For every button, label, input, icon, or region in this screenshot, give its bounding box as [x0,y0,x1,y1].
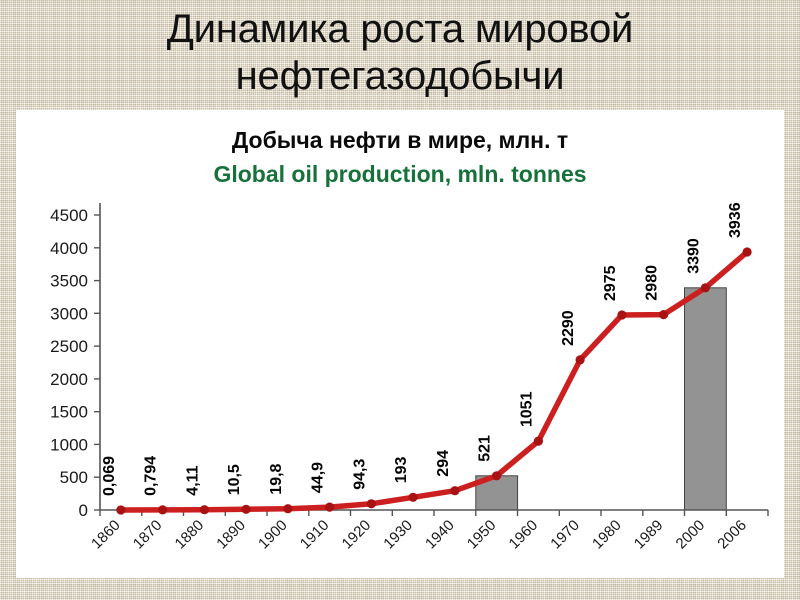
slide-root: Динамика роста мировой нефтегазодобычи Д… [0,0,800,600]
data-point-marker [576,355,585,364]
data-point-marker [367,499,376,508]
data-point-label: 3390 [685,238,702,274]
data-point-marker [116,505,125,514]
data-point-label: 0,794 [143,456,160,496]
data-point-labels-group: 0,0690,7944,1110,519,844,994,31932945211… [101,202,744,496]
data-point-label: 0,069 [101,456,118,496]
x-tick-label: 1930 [380,517,416,553]
data-point-marker [200,505,209,514]
y-tick-label: 0 [79,501,88,520]
data-point-marker [617,310,626,319]
y-tick-label: 500 [60,468,88,487]
y-tick-label: 3000 [50,304,88,323]
x-tick-label: 1989 [631,517,667,553]
page-title: Динамика роста мировой нефтегазодобычи [40,6,760,100]
x-tick-label: 1860 [88,517,124,553]
data-point-marker [743,247,752,256]
chart-plot-area: 050010001500200025003000350040004500 186… [16,110,784,578]
x-tick-label: 1970 [547,517,583,553]
data-point-marker [701,283,710,292]
x-tick-label: 1940 [422,517,458,553]
x-tick-labels-group: 1860187018801890190019101920193019401950… [88,517,750,553]
y-tick-label: 4500 [50,206,88,225]
data-point-label: 3936 [727,202,744,238]
y-tick-label: 1000 [50,435,88,454]
x-tick-label: 1920 [339,517,375,553]
y-tick-label: 3500 [50,272,88,291]
x-tick-label: 2006 [714,517,750,553]
data-point-label: 2290 [560,310,577,346]
data-point-marker [283,504,292,513]
y-tick-label: 4000 [50,239,88,258]
y-tick-label: 2000 [50,370,88,389]
data-point-label: 4,11 [184,465,201,495]
data-point-marker [325,503,334,512]
highlight-bars-group [476,288,727,510]
x-tick-label: 1870 [130,517,166,553]
x-tick-label: 1960 [506,517,542,553]
data-point-marker [659,310,668,319]
x-tick-label: 1890 [213,517,249,553]
x-tick-label: 2000 [673,517,709,553]
y-tick-label: 2500 [50,337,88,356]
data-point-marker [534,437,543,446]
data-point-label: 2980 [644,265,661,301]
data-point-label: 193 [393,457,410,484]
data-point-label: 10,5 [226,464,243,495]
y-tick-labels-group: 050010001500200025003000350040004500 [50,206,88,520]
data-point-label: 19,8 [268,463,285,494]
data-point-label: 294 [435,450,452,477]
x-tick-label: 1910 [297,517,333,553]
y-tick-label: 1500 [50,403,88,422]
x-tick-label: 1950 [464,517,500,553]
x-tick-label: 1880 [172,517,208,553]
x-tick-label: 1900 [255,517,291,553]
line-chart-svg: 050010001500200025003000350040004500 186… [16,110,784,578]
data-point-label: 2975 [602,265,619,301]
data-point-label: 1051 [518,391,535,427]
data-point-marker [492,471,501,480]
data-point-marker [242,505,251,514]
data-point-label: 521 [477,435,494,462]
data-point-label: 44,9 [310,462,327,493]
x-tick-label: 1980 [589,517,625,553]
chart-card: Добыча нефти в мире, млн. т Global oil p… [16,110,784,578]
highlight-bar [685,288,727,510]
data-point-marker [158,505,167,514]
data-point-marker [450,486,459,495]
data-point-marker [409,493,418,502]
data-point-label: 94,3 [351,459,368,490]
